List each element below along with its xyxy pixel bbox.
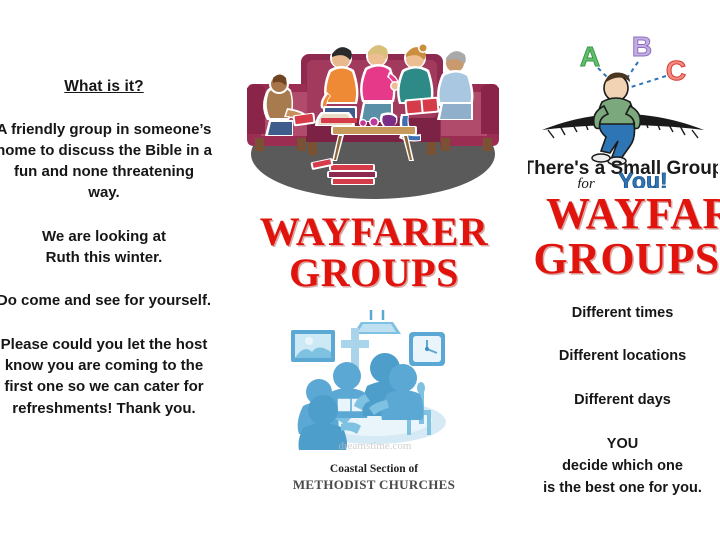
middle-title-line2: GROUPS [243,253,505,294]
svg-text:dreamstime.com: dreamstime.com [338,440,411,452]
feature-different-times: Different times [520,304,720,324]
logo-tagline-script: for [577,176,595,188]
right-feature-lines: Different times Different locations Diff… [520,304,720,500]
middle-column: WAYFARER GROUPS [243,0,505,493]
methodist-churches-caption: Coastal Section of METHODIST CHURCHES [243,462,505,494]
bible-study-group-clipart: dreamstime.com [279,306,469,456]
current-study-paragraph: We are looking at Ruth this winter. [0,226,216,269]
caption-line2: METHODIST CHURCHES [243,477,505,494]
right-title-line2: GROUPS [528,237,720,282]
logo-tagline-you: You! [618,168,667,188]
what-is-it-heading: What is it? [0,78,216,97]
book-group-on-sofas-clipart [245,14,501,204]
caption-line1: Coastal Section of [243,462,505,477]
closing-statement: YOU decide which one is the best one for… [520,434,720,499]
rsvp-paragraph: Please could you let the host know you a… [0,334,216,419]
flyer-page: What is it? A friendly group in someone’… [0,0,720,540]
middle-wayfarer-title: WAYFARER GROUPS [243,212,505,294]
invitation-paragraph: Do come and see for yourself. [0,290,216,311]
right-title-line1: WAYFARER [546,192,720,237]
right-wayfarer-title: WAYFARER GROUPS [520,192,720,282]
theres-a-small-group-for-you-logo: A B C [528,18,718,188]
letter-c: C [665,55,685,86]
letter-b: B [631,31,651,62]
left-text-column: What is it? A friendly group in someone’… [0,78,216,441]
middle-title-line1: WAYFARER [260,209,488,254]
letter-a: A [579,41,599,72]
description-paragraph: A friendly group in someone’s home to di… [0,119,216,204]
feature-different-locations: Different locations [520,347,720,367]
right-column: A B C [520,0,720,500]
feature-different-days: Different days [520,391,720,411]
